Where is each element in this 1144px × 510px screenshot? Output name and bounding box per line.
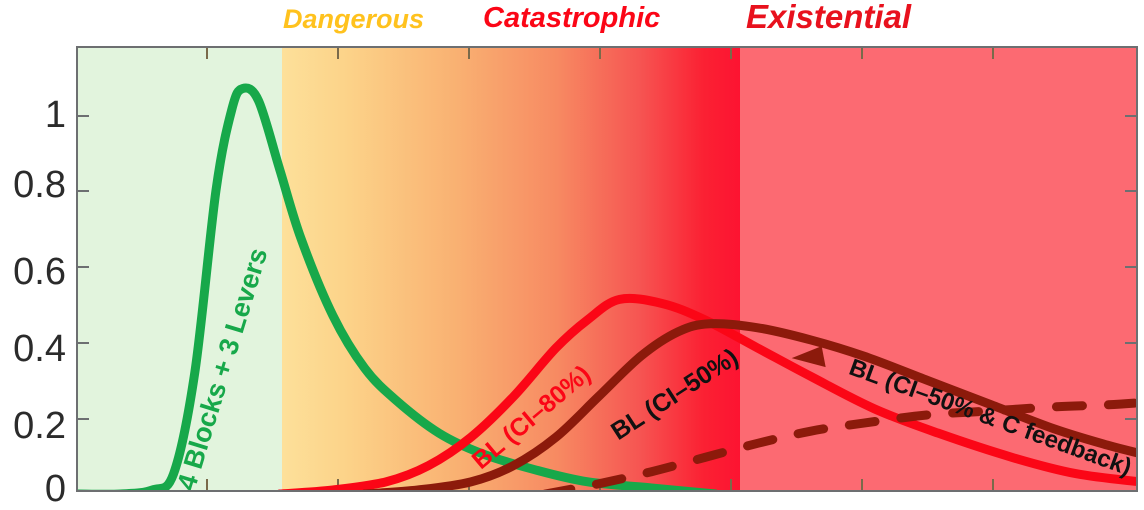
region-label-dangerous: Dangerous [283,6,424,33]
plot-area: 4 Blocks + 3 Levers BL (CI–80%) BL (CI–5… [76,46,1138,492]
y-tick-label-06: 0.6 [13,253,66,291]
y-tick-label-04: 0.4 [13,330,66,368]
region-label-existential: Existential [746,0,911,33]
region-label-catastrophic: Catastrophic [483,4,660,33]
y-tick-label-08: 0.8 [13,166,66,204]
y-tick-label-1: 1 [45,96,66,134]
chart-container: Dangerous Catastrophic Existential 1 0.8… [0,0,1144,506]
y-tick-label-0: 0 [45,470,66,508]
y-tick-label-02: 0.2 [13,407,66,445]
